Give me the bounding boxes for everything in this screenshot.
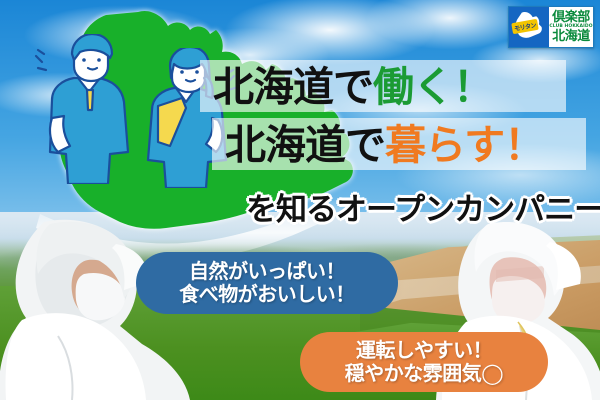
poster-canvas: 北海道で働く！ 北海道で暮らす！ を知るオープンカンパニー モリタン 倶楽部 C… xyxy=(0,0,600,400)
headline-line-2-accent: 暮らす！ xyxy=(385,121,544,169)
headline-line-1: 北海道で働く！ xyxy=(213,67,493,108)
headline-line-2-black: 北海道で xyxy=(225,121,385,169)
businessman-illustration xyxy=(34,34,144,184)
headline-line-1-accent: 働く！ xyxy=(373,63,493,111)
nature-bubble-line-2: 食べ物がおいしい！ xyxy=(179,283,355,306)
nature-bubble-line-1: 自然がいっぱい！ xyxy=(189,260,345,283)
nature-bubble: 自然がいっぱい！ 食べ物がおいしい！ xyxy=(136,252,398,314)
hokkaido-map-icon: モリタン xyxy=(509,7,549,47)
driving-bubble: 運転しやすい！ 穏やかな雰囲気◯ xyxy=(300,332,548,392)
club-hokkaido-logo[interactable]: モリタン 倶楽部 CLUB HOKKAIDO 北海道 xyxy=(508,6,594,48)
logo-text-block: 倶楽部 CLUB HOKKAIDO 北海道 xyxy=(549,7,593,47)
logo-line-kurabu: 倶楽部 xyxy=(552,11,590,24)
headline-line-2: 北海道で暮らす！ xyxy=(225,125,544,166)
driving-bubble-line-1: 運転しやすい！ xyxy=(356,339,492,362)
headline-line-1-black: 北海道で xyxy=(213,63,373,111)
headline-line-3: を知るオープンカンパニー xyxy=(246,184,600,229)
logo-line-hokkaido: 北海道 xyxy=(552,30,590,43)
driving-bubble-line-2: 穏やかな雰囲気◯ xyxy=(345,362,503,385)
